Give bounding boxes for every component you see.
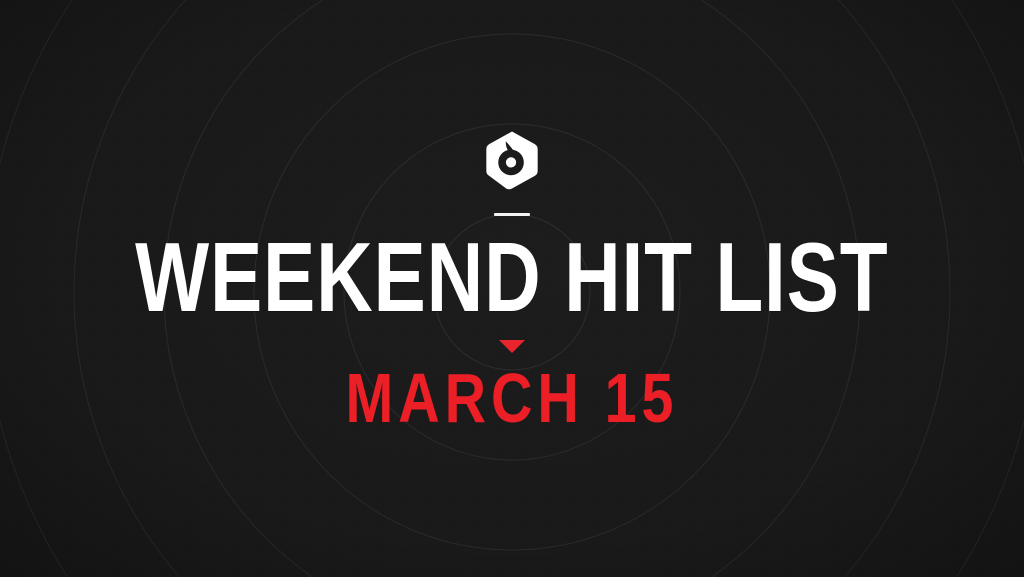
page-title: WEEKEND HIT LIST <box>135 228 888 326</box>
beatport-hex-logo-icon <box>481 129 543 191</box>
card-content: WEEKEND HIT LIST MARCH 15 <box>0 0 1024 577</box>
date-label: MARCH 15 <box>346 363 679 433</box>
horizontal-rule-divider <box>494 213 530 216</box>
promo-card: WEEKEND HIT LIST MARCH 15 <box>0 0 1024 577</box>
triangle-down-icon <box>499 340 525 353</box>
